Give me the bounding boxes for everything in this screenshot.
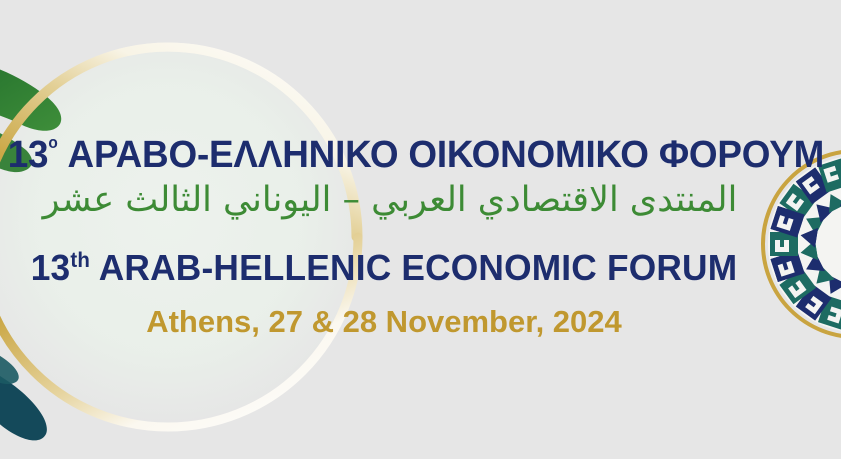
english-title-ordinal: 13	[31, 247, 71, 288]
english-title-text: ARAB-HELLENIC ECONOMIC FORUM	[99, 247, 738, 288]
greek-title-ordinal-suffix: ᵒ	[48, 132, 57, 158]
forum-banner: 13ᵒ ΑΡΑΒΟ-ΕΛΛΗΝΙΚΟ ΟΙΚΟΝΟΜΙΚΟ ΦΟΡΟΥΜ الم…	[0, 0, 841, 459]
greek-title-ordinal: 13	[8, 134, 49, 176]
greek-title-text: ΑΡΑΒΟ-ΕΛΛΗΝΙΚΟ ΟΙΚΟΝΟΜΙΚΟ ΦΟΡΟΥΜ	[68, 134, 825, 176]
banner-text-layer: 13ᵒ ΑΡΑΒΟ-ΕΛΛΗΝΙΚΟ ΟΙΚΟΝΟΜΙΚΟ ΦΟΡΟΥΜ الم…	[0, 0, 841, 459]
greek-title: 13ᵒ ΑΡΑΒΟ-ΕΛΛΗΝΙΚΟ ΟΙΚΟΝΟΜΙΚΟ ΦΟΡΟΥΜ	[8, 136, 765, 174]
english-title: 13th ARAB-HELLENIC ECONOMIC FORUM	[2, 250, 766, 286]
event-date-location: Athens, 27 & 28 November, 2024	[0, 306, 774, 337]
arabic-subtitle: المنتدى الاقتصادي العربي – اليوناني الثا…	[0, 183, 790, 218]
english-title-ordinal-suffix: th	[70, 249, 90, 272]
